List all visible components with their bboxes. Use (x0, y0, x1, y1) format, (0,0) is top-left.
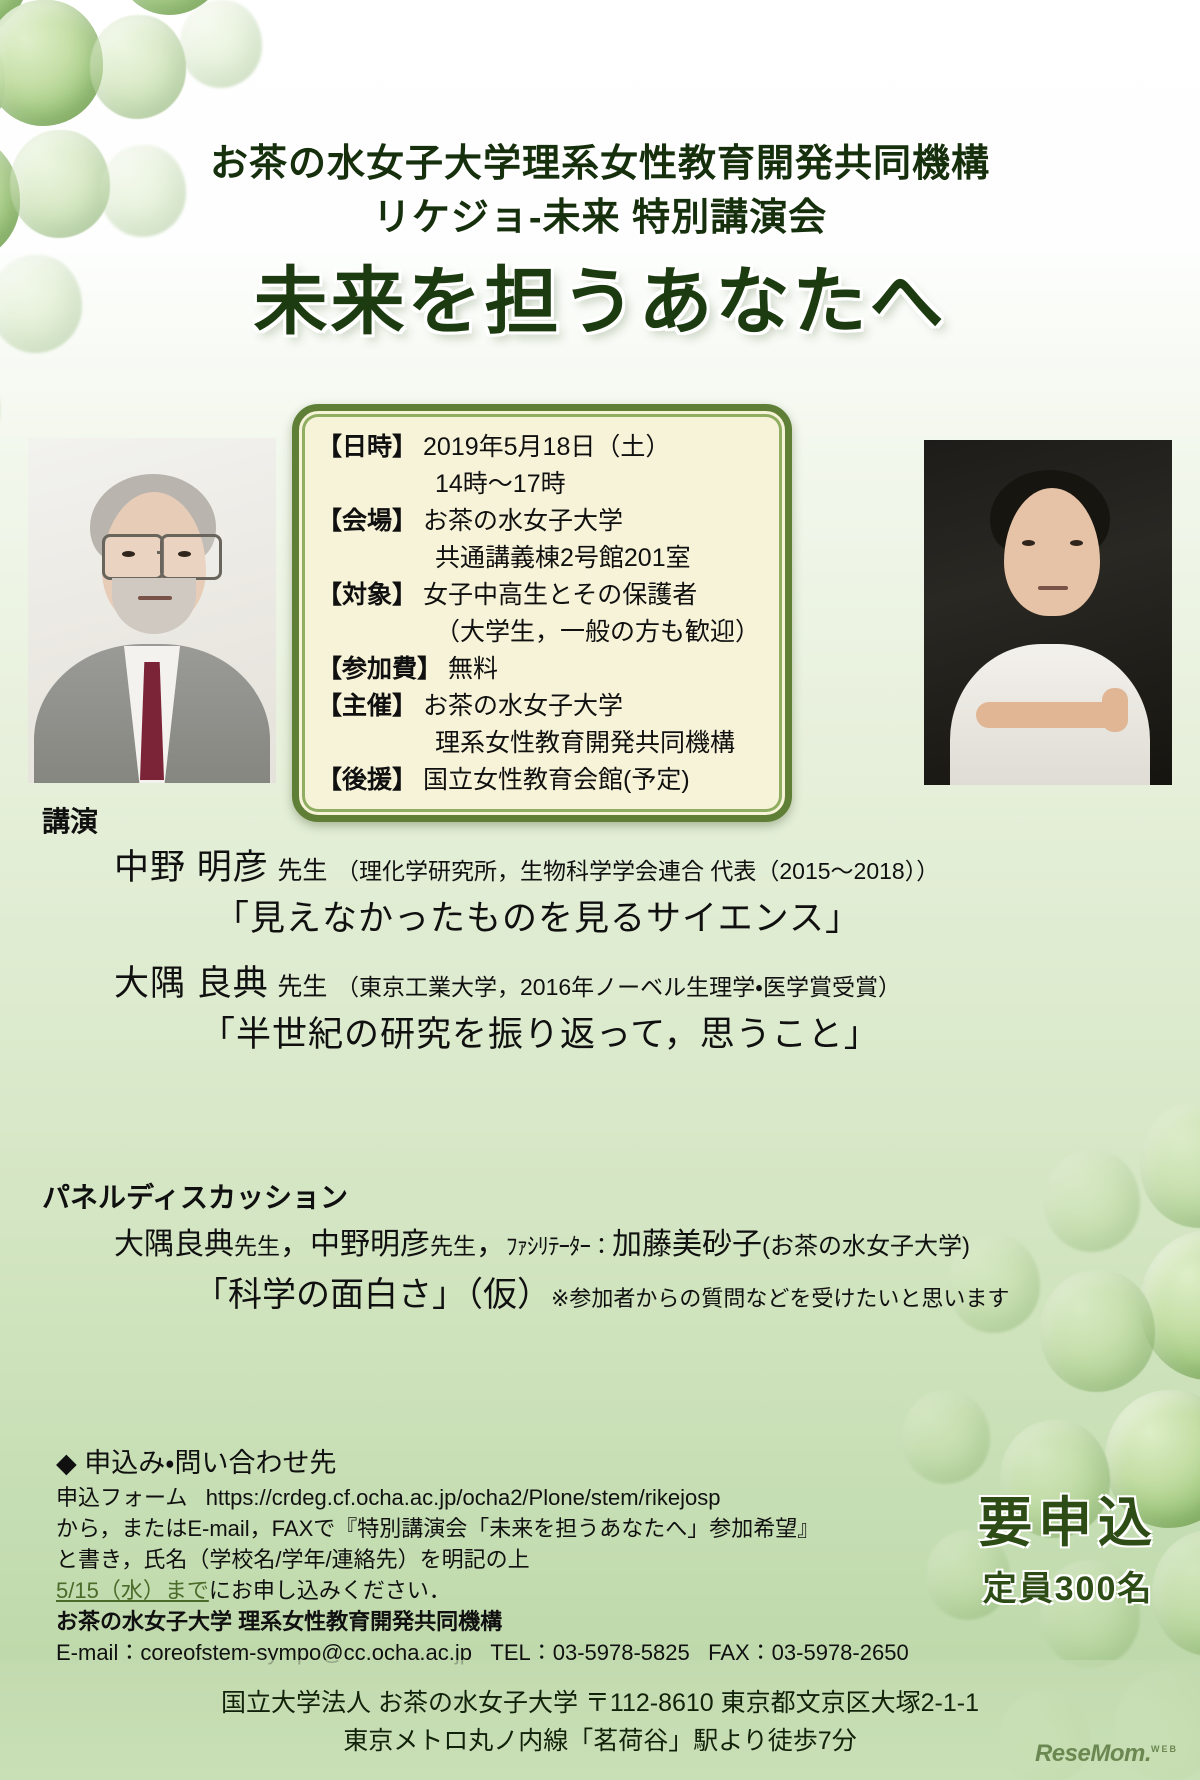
watermark-text: ReseMom. (1035, 1740, 1151, 1767)
info-key-fee: 【参加費】 (317, 651, 442, 688)
info-key-support: 【後援】 (317, 762, 417, 799)
info-value-audience: 女子中高生とその保護者 (417, 577, 769, 614)
speaker-2-nameline: 大隅 良典 先生 （東京工業大学，2016年ノーベル生理学・医学賞受賞） (52, 962, 1062, 1009)
diamond-icon: ◆ (56, 1448, 77, 1478)
info-row-audience: 【対象】 女子中高生とその保護者 (317, 577, 769, 614)
info-key-organizer: 【主催】 (317, 688, 417, 725)
speaker-1-honorific: 先生 (277, 857, 327, 885)
portrait-right-photo (924, 440, 1172, 785)
panel-facilitator-label: ﾌｧｼﾘﾃｰﾀｰ： (506, 1233, 612, 1259)
registration-required-badge: 要申込 定員300名 (978, 1478, 1158, 1610)
panel-separator-1: ， (280, 1228, 310, 1261)
header-line-2: リケジョ-未来 特別講演会 (0, 190, 1200, 246)
footer-line-2: 東京メトロ丸ノ内線「茗荷谷」駅より徒歩7分 (0, 1722, 1200, 1760)
watermark-mark: WEB (1151, 1744, 1178, 1754)
info-cont-venue: 共通講義棟2号館201室 (317, 540, 769, 577)
info-value-venue: お茶の水女子大学 (417, 503, 769, 540)
speaker-1-nameline: 中野 明彦 先生 （理化学研究所，生物科学学会連合 代表（2015～2018）） (52, 846, 1062, 893)
speaker-portrait-right (924, 440, 1172, 785)
speaker-1-name: 中野 明彦 (114, 848, 269, 887)
speaker-1-affiliation: （理化学研究所，生物科学学会連合 代表 (336, 858, 756, 884)
speaker-2-honorific: 先生 (277, 973, 327, 1001)
poster-canvas: お茶の水女子大学理系女性教育開発共同機構 リケジョ-未来 特別講演会 未来を担う… (0, 0, 1200, 1780)
section-label-lecture: 講演 (42, 800, 98, 840)
event-info-card: 【日時】 2019年5月18日（土） 14時～17時 【会場】 お茶の水女子大学… (292, 404, 792, 822)
speaker-2-talk-title: 「半世紀の研究を振り返って，思うこと」 (52, 1009, 1062, 1061)
panel-title-line: 「科学の面白さ」（仮）※参加者からの質問などを受けたいと思います (52, 1270, 1152, 1324)
badge-line-2: 定員300名 (978, 1561, 1158, 1610)
info-row-venue: 【会場】 お茶の水女子大学 (317, 503, 769, 540)
footer-line-1: 国立大学法人 お茶の水女子大学 〒112-8610 東京都文京区大塚2-1-1 (0, 1660, 1200, 1722)
info-key-venue: 【会場】 (317, 503, 417, 540)
info-cont-audience: （大学生，一般の方も歓迎） (317, 614, 769, 651)
info-value-fee: 無料 (442, 651, 769, 688)
apply-deadline-rest: にお申し込みください． (209, 1578, 451, 1603)
apply-heading-row: ◆ 申込み・問い合わせ先 (56, 1444, 1146, 1482)
info-key-audience: 【対象】 (317, 577, 417, 614)
panel-member-2-suffix: 先生 (430, 1233, 476, 1259)
panel-member-2: 中野明彦 (310, 1228, 430, 1261)
info-row-datetime: 【日時】 2019年5月18日（土） (317, 429, 769, 466)
apply-form-label: 申込フォーム (56, 1485, 187, 1510)
speaker-portrait-left (28, 438, 276, 783)
speaker-entry-1: 中野 明彦 先生 （理化学研究所，生物科学学会連合 代表（2015～2018））… (52, 846, 1062, 945)
panel-separator-2: ， (476, 1228, 506, 1261)
speaker-1-affiliation-close: ） (916, 858, 939, 884)
badge-line-1: 要申込 (978, 1478, 1158, 1557)
panel-member-1-suffix: 先生 (234, 1233, 280, 1259)
info-value-datetime: 2019年5月18日（土） (417, 429, 769, 466)
info-value-organizer: お茶の水女子大学 (417, 688, 769, 725)
header-line-1: お茶の水女子大学理系女性教育開発共同機構 (0, 138, 1200, 190)
speaker-2-affiliation: （東京工業大学，2016年ノーベル生理学・医学賞受賞） (336, 974, 901, 1000)
info-value-support: 国立女性教育会館(予定) (417, 762, 769, 799)
panel-facilitator-name: 加藤美砂子 (612, 1228, 762, 1261)
info-row-fee: 【参加費】 無料 (317, 651, 769, 688)
apply-form-url[interactable]: https://crdeg.cf.ocha.ac.jp/ocha2/Plone/… (206, 1485, 721, 1510)
poster-main-title: 未来を担うあなたへ (0, 256, 1200, 348)
panel-title: 「科学の面白さ」（仮） (194, 1276, 551, 1314)
apply-heading: 申込み・問い合わせ先 (84, 1448, 336, 1478)
panel-facilitator-org: (お茶の水女子大学) (762, 1233, 970, 1260)
info-key-datetime: 【日時】 (317, 429, 417, 466)
portrait-left-photo (28, 438, 276, 783)
panel-note: ※参加者からの質問などを受けたいと思います (551, 1286, 1009, 1311)
info-cont-datetime: 14時～17時 (317, 466, 769, 503)
resemom-watermark: ReseMom.WEB (1035, 1740, 1178, 1768)
speaker-1-affiliation-years: （2015～2018） (756, 858, 916, 884)
apply-deadline: 5/15（水）まで (56, 1578, 209, 1603)
panel-member-1: 大隅良典 (114, 1228, 234, 1261)
info-cont-organizer: 理系女性教育開発共同機構 (317, 725, 769, 762)
poster-header: お茶の水女子大学理系女性教育開発共同機構 リケジョ-未来 特別講演会 未来を担う… (0, 138, 1200, 348)
poster-footer: 国立大学法人 お茶の水女子大学 〒112-8610 東京都文京区大塚2-1-1 … (0, 1660, 1200, 1780)
speaker-entry-2: 大隅 良典 先生 （東京工業大学，2016年ノーベル生理学・医学賞受賞） 「半世… (52, 962, 1062, 1061)
speaker-1-talk-title: 「見えなかったものを見るサイエンス」 (52, 893, 1062, 945)
section-label-panel: パネルディスカッション (42, 1176, 348, 1216)
apply-organization: お茶の水女子大学 理系女性教育開発共同機構 (56, 1606, 1146, 1637)
panel-members-block: 大隅良典先生，中野明彦先生，ﾌｧｼﾘﾃｰﾀｰ：加藤美砂子(お茶の水女子大学) 「… (52, 1222, 1152, 1324)
panel-member-line: 大隅良典先生，中野明彦先生，ﾌｧｼﾘﾃｰﾀｰ：加藤美砂子(お茶の水女子大学) (52, 1222, 1152, 1270)
info-row-support: 【後援】 国立女性教育会館(予定) (317, 762, 769, 799)
info-row-organizer: 【主催】 お茶の水女子大学 (317, 688, 769, 725)
speaker-2-name: 大隅 良典 (114, 964, 269, 1003)
